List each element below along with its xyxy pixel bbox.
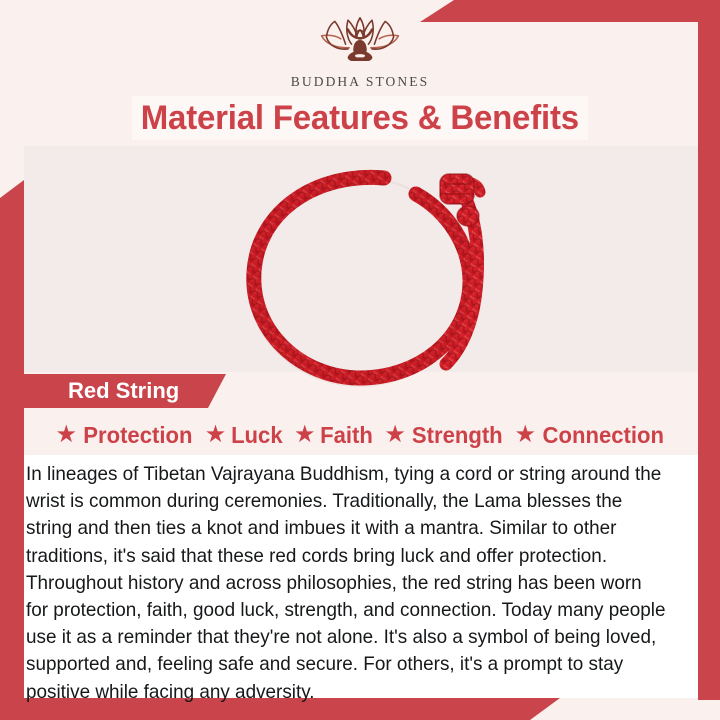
star-icon: ★ — [294, 423, 316, 447]
star-icon: ★ — [514, 423, 536, 447]
feature-item-luck: ★ Luck — [205, 422, 284, 449]
page-title: Material Features & Benefits — [141, 99, 579, 138]
product-name-banner: Red String — [24, 374, 226, 408]
decorative-red-bar-right — [698, 0, 720, 700]
description-text: In lineages of Tibetan Vajrayana Buddhis… — [26, 461, 668, 706]
brand-logo: BUDDHA STONES — [0, 14, 720, 90]
feature-label: Connection — [543, 422, 664, 449]
description-block: In lineages of Tibetan Vajrayana Buddhis… — [24, 455, 698, 698]
feature-keywords-row: ★ Protection ★ Luck ★ Faith ★ Strength ★… — [24, 417, 698, 453]
product-image-red-string-bracelet — [232, 150, 498, 400]
feature-item-faith: ★ Faith — [294, 422, 374, 449]
feature-label: Luck — [231, 422, 283, 449]
feature-label: Faith — [321, 422, 374, 449]
feature-label: Protection — [83, 422, 192, 449]
star-icon: ★ — [205, 423, 227, 447]
decorative-red-bar-left — [0, 180, 24, 720]
lotus-meditating-figure-icon — [312, 14, 408, 72]
feature-item-connection: ★ Connection — [514, 422, 666, 449]
title-band: Material Features & Benefits — [132, 96, 588, 140]
feature-label: Strength — [412, 422, 503, 449]
feature-item-strength: ★ Strength — [384, 422, 504, 449]
star-icon: ★ — [384, 423, 406, 447]
feature-item-protection: ★ Protection — [55, 422, 194, 449]
infographic-page: BUDDHA STONES Material Features & Benefi… — [0, 0, 720, 720]
product-name: Red String — [68, 378, 179, 404]
star-icon: ★ — [55, 423, 77, 447]
brand-name: BUDDHA STONES — [291, 74, 429, 90]
